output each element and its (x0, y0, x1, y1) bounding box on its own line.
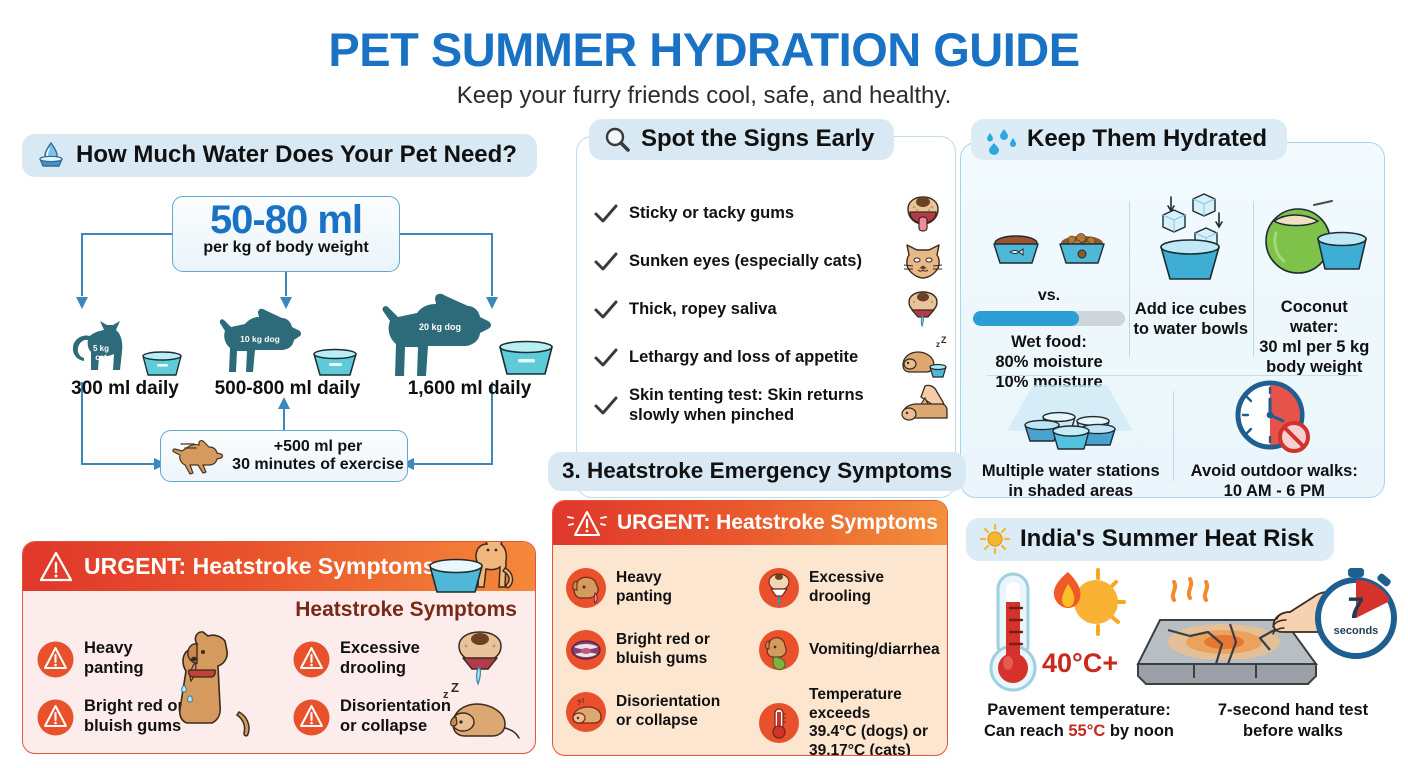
svg-text:Z: Z (451, 680, 459, 695)
hydrated-item-ice-cubes: Add ice cubes to water bowls (1129, 193, 1253, 365)
exercise-box: +500 ml per 30 minutes of exercise (160, 430, 408, 482)
emergency-banner-label: URGENT: Heatstroke Symptoms (617, 511, 938, 535)
collapsed-dog-circle-icon: ? ! (565, 691, 607, 733)
dog-panting-circle-icon (565, 567, 607, 609)
check-icon (593, 395, 629, 417)
list-item: Bright red orbluish gums (557, 619, 750, 681)
drooling-muzzle-icon (897, 289, 949, 331)
emergency-left-column: Heavypanting (557, 557, 750, 756)
pet-column-small-dog: 10 kg dog 500-800 ml daily (190, 306, 385, 400)
clock-no-entry-icon (1177, 383, 1373, 455)
check-icon (593, 251, 629, 273)
hydrated-label: Coconut water: 30 ml per 5 kg body weigh… (1257, 297, 1373, 378)
emergency-symptoms-panel: 3. Heatstroke Emergency Symptoms URGENT: (548, 452, 952, 758)
list-item: Lethargy and loss of appetite z Z (593, 335, 949, 380)
thermometer-circle-icon (758, 702, 800, 744)
list-item: Skin tenting test: Skin returns slowly w… (593, 383, 949, 428)
hydrated-item-wet-food: vs. Wet food: 80% moisture 10% moisture (969, 193, 1129, 365)
stopwatch-number: 7 (1348, 592, 1365, 625)
pet-amount-large-dog: 1,600 ml daily (377, 378, 562, 400)
hydrated-label: Avoid outdoor walks: 10 AM - 6 PM (1177, 461, 1373, 501)
pet-tag-small-dog: 10 kg dog (240, 334, 280, 344)
list-item: ? ! Disorientationor collapse (557, 681, 750, 743)
warning-circle-icon (293, 641, 330, 678)
symptom-label: Temperature exceeds39.4°C (dogs) or39.17… (809, 686, 941, 756)
ice-cubes-bowl-icon (1133, 193, 1249, 285)
check-icon (593, 299, 629, 321)
sun-icon (980, 524, 1010, 554)
symptom-label: Vomiting/diarrhea (809, 641, 940, 660)
list-item: Heavypanting (557, 557, 750, 619)
hand-test-label: 7-second hand test before walks (1198, 700, 1388, 741)
sleeping-dog-zzz-icon: z Z (439, 684, 525, 742)
symptom-label: Disorientationor collapse (340, 697, 451, 737)
exercise-text: +500 ml per 30 minutes of exercise (229, 438, 407, 475)
symptom-label: Heavypanting (616, 569, 672, 606)
multiple-bowls-shade-icon (973, 383, 1169, 455)
emergency-card: URGENT: Heatstroke Symptoms (552, 500, 948, 756)
signs-panel: Spot the Signs Early Sticky or tacky gum… (576, 136, 956, 498)
stopwatch-icon: 7 seconds (1312, 566, 1404, 662)
hydrated-item-stations: Multiple water stations in shaded areas (969, 383, 1173, 489)
check-icon (593, 203, 629, 225)
hydrated-top-row: vs. Wet food: 80% moisture 10% moisture (969, 193, 1376, 365)
heat-risk-heading: India's Summer Heat Risk (966, 518, 1334, 561)
water-bowl-icon (496, 336, 556, 378)
svg-text:z: z (936, 340, 940, 349)
water-bowl-icon (311, 345, 359, 378)
symptom-label: Excessivedrooling (340, 639, 420, 679)
dog-panting-tongue-icon (897, 193, 949, 235)
hydrated-bottom-row: Multiple water stations in shaded areas (969, 383, 1376, 489)
warning-circle-icon (293, 699, 330, 736)
page-title: PET SUMMER HYDRATION GUIDE (0, 22, 1408, 77)
hydrated-item-avoid-walks: Avoid outdoor walks: 10 AM - 6 PM (1173, 383, 1377, 489)
heat-risk-panel: India's Summer Heat Risk (960, 518, 1388, 756)
vs-label: vs. (973, 287, 1125, 305)
emergency-heading: 3. Heatstroke Emergency Symptoms (548, 452, 966, 491)
hydrated-label: Add ice cubes to water bowls (1133, 299, 1249, 339)
warning-triangle-flash-icon (567, 508, 607, 538)
symptom-label: Bright red orbluish gums (616, 631, 710, 668)
emergency-grid: Heavypanting (553, 545, 947, 756)
signs-heading-label: Spot the Signs Early (641, 125, 874, 153)
check-icon (593, 347, 629, 369)
water-bowl-icon (140, 348, 184, 378)
pet-tag-large-dog: 20 kg dog (418, 322, 460, 332)
temp-badge: 40°C+ (1042, 648, 1118, 679)
signs-heading: Spot the Signs Early (589, 119, 894, 160)
warning-triangle-icon (39, 551, 73, 582)
cat-with-bowl-icon (425, 541, 531, 600)
sign-label: Sticky or tacky gums (629, 204, 897, 224)
list-item: Sticky or tacky gums (593, 191, 949, 236)
heat-risk-art: 40°C+ (960, 566, 1388, 696)
running-dog-icon (169, 439, 223, 473)
large-dog-silhouette-icon: 20 kg dog (384, 302, 494, 378)
cat-silhouette-icon: 5 kg cat (66, 318, 136, 378)
svg-text:cat: cat (95, 353, 107, 362)
sitting-panting-dog-icon (167, 626, 263, 742)
symptom-label: Disorientationor collapse (616, 693, 720, 730)
two-food-bowls-icon (973, 193, 1125, 285)
hero-unit: per kg of body weight (173, 239, 399, 257)
pet-tag-cat: 5 kg (93, 344, 109, 353)
gums-circle-icon (565, 629, 607, 671)
stopwatch-unit: seconds (1334, 625, 1379, 637)
svg-text:Z: Z (941, 335, 947, 345)
svg-text:?: ? (577, 700, 581, 707)
pet-amount-small-dog: 500-800 ml daily (190, 378, 385, 400)
moisture-bar (973, 311, 1125, 326)
water-need-panel: How Much Water Does Your Pet Need? (22, 134, 562, 494)
drooling-muzzle-icon (447, 628, 513, 686)
urgent-banner-label: URGENT: Heatstroke Symptoms (84, 553, 435, 580)
emergency-heading-label: 3. Heatstroke Emergency Symptoms (562, 458, 952, 484)
flame-sun-icon (1042, 568, 1128, 644)
list-item: Vomiting/diarrhea (750, 619, 943, 681)
svg-text:!: ! (582, 698, 584, 705)
urgent-heatstroke-panel: URGENT: Heatstroke Symptoms Heatstroke S… (22, 541, 536, 754)
list-item: Temperature exceeds39.4°C (dogs) or39.17… (750, 681, 943, 756)
thermometer-icon (980, 570, 1046, 696)
signs-list: Sticky or tacky gums Sunken eyes (especi… (593, 191, 949, 431)
urgent-symptom-grid: Heavypanting Bright red orbluish gums (23, 630, 535, 746)
pet-column-large-dog: 20 kg dog 1,600 ml daily (377, 298, 562, 400)
infographic-canvas: PET SUMMER HYDRATION GUIDE Keep your fur… (0, 0, 1408, 768)
hero-value: 50-80 ml (173, 199, 399, 241)
vomiting-dog-circle-icon (758, 629, 800, 671)
page-subtitle: Keep your furry friends cool, safe, and … (0, 82, 1408, 110)
emergency-right-column: Excessivedrooling (750, 557, 943, 756)
water-need-hero: 50-80 ml per kg of body weight (172, 196, 400, 272)
sign-label: Lethargy and loss of appetite (629, 348, 897, 368)
sleeping-dog-bowl-icon: z Z (897, 337, 949, 379)
symptom-label: Excessivedrooling (809, 569, 884, 606)
magnifier-icon (603, 125, 631, 153)
small-dog-silhouette-icon: 10 kg dog (216, 312, 308, 378)
hydrated-item-coconut: Coconut water: 30 ml per 5 kg body weigh… (1253, 193, 1377, 365)
warning-circle-icon (37, 641, 74, 678)
list-item: Excessivedrooling (750, 557, 943, 619)
water-splash-icon (985, 125, 1017, 153)
urgent-left-column: Heavypanting Bright red orbluish gums (23, 630, 279, 746)
hand-pinch-skin-icon (897, 384, 949, 428)
hydrated-panel: Keep Them Hydrated (960, 142, 1385, 498)
heat-risk-labels: Pavement temperature: Can reach 55°C by … (960, 700, 1388, 741)
sign-label: Thick, ropey saliva (629, 300, 897, 320)
urgent-subtitle: Heatstroke Symptoms (295, 598, 517, 622)
sign-label: Skin tenting test: Skin returns slowly w… (629, 386, 897, 426)
emergency-banner: URGENT: Heatstroke Symptoms (553, 501, 947, 545)
hydrated-label: Multiple water stations in shaded areas (973, 461, 1169, 501)
sign-label: Sunken eyes (especially cats) (629, 252, 897, 272)
pavement-label: Pavement temperature: Can reach 55°C by … (960, 700, 1198, 741)
svg-text:z: z (443, 689, 449, 701)
urgent-right-column: Excessivedrooling Disorientationor colla (279, 630, 535, 746)
list-item: Thick, ropey saliva (593, 287, 949, 332)
heat-risk-heading-label: India's Summer Heat Risk (1020, 525, 1314, 553)
list-item: Sunken eyes (especially cats) (593, 239, 949, 284)
symptom-label: Heavypanting (84, 639, 144, 679)
coconut-bowl-icon (1257, 193, 1373, 285)
hydrated-heading-label: Keep Them Hydrated (1027, 125, 1267, 153)
warning-circle-icon (37, 699, 74, 736)
cat-face-icon (897, 241, 949, 283)
divider (987, 375, 1358, 376)
hydrated-heading: Keep Them Hydrated (971, 119, 1287, 160)
drool-circle-icon (758, 567, 800, 609)
